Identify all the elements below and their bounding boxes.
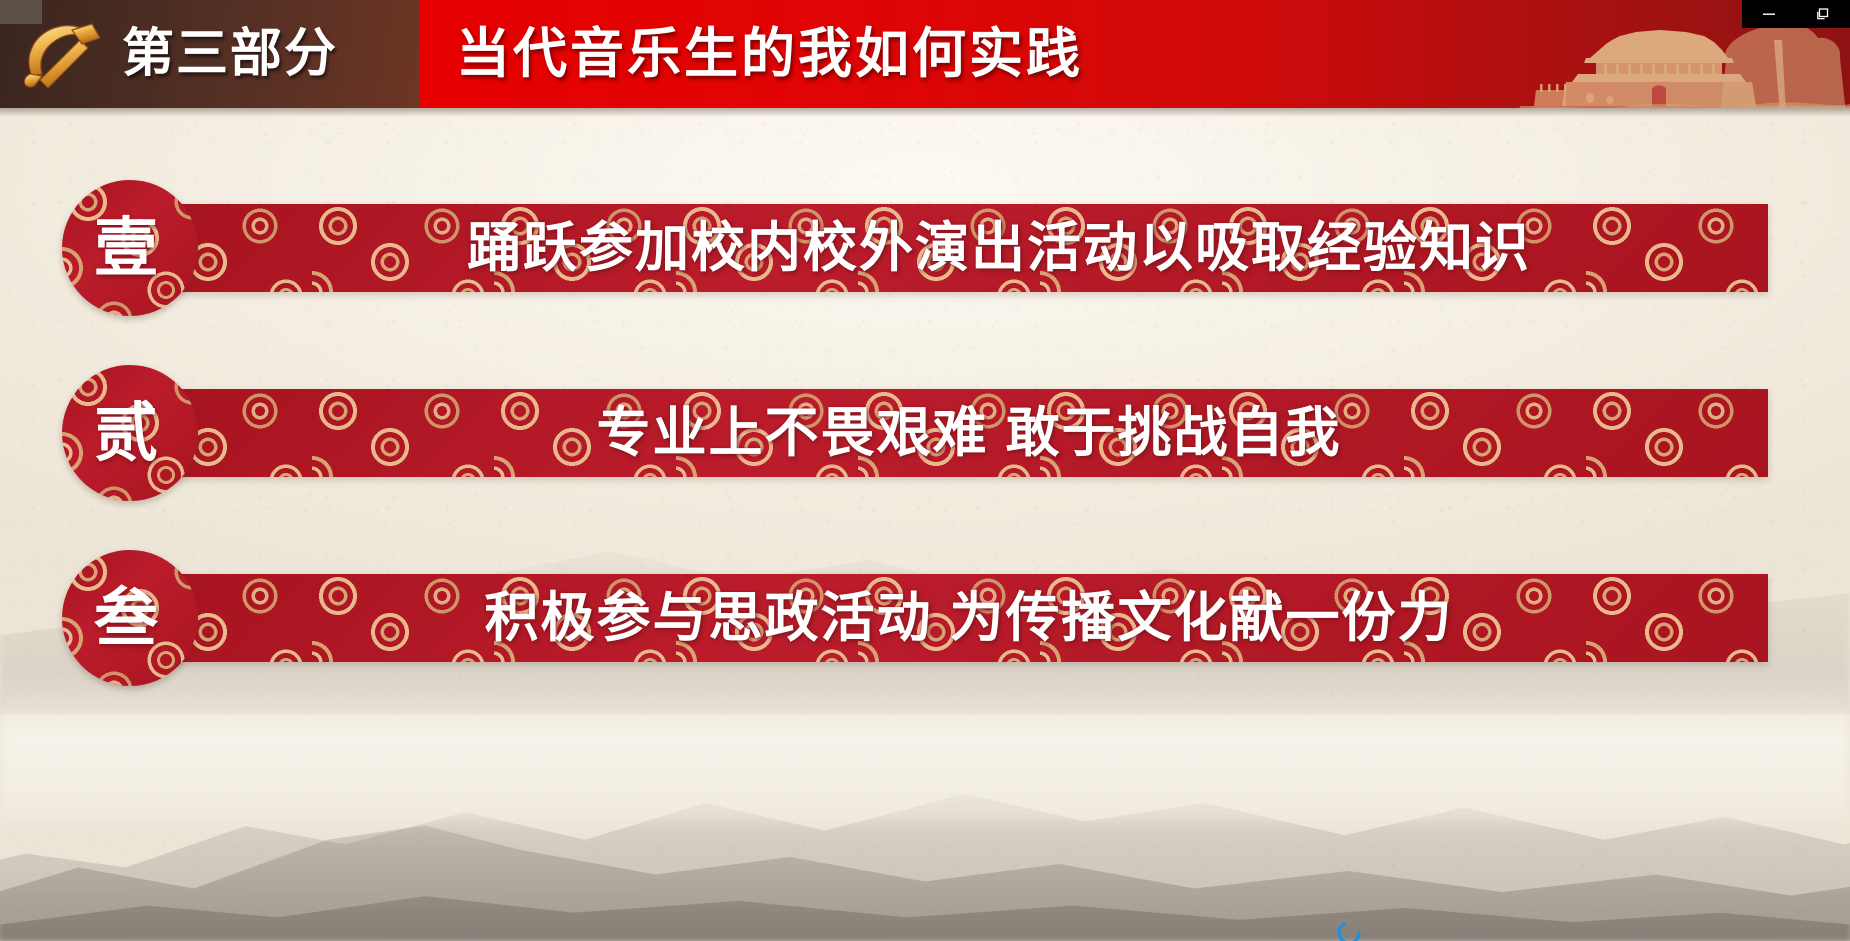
item-text: 踊跃参加校内校外演出活动以吸取经验知识 xyxy=(130,221,1768,275)
slide-header: 第三部分 当代音乐生的我如何实践 xyxy=(0,0,1850,108)
header-section-panel: 第三部分 xyxy=(0,0,420,108)
list-item[interactable]: 踊跃参加校内校外演出活动以吸取经验知识 壹 xyxy=(0,178,1850,318)
slide-canvas: 第三部分 当代音乐生的我如何实践 xyxy=(0,0,1850,941)
header-title-panel: 当代音乐生的我如何实践 xyxy=(420,0,1850,108)
item-text: 专业上不畏艰难 敢于挑战自我 xyxy=(130,406,1768,460)
list-item[interactable]: 专业上不畏艰难 敢于挑战自我 贰 xyxy=(0,363,1850,503)
loading-cursor-icon xyxy=(1334,918,1368,941)
item-bar: 积极参与思政活动 为传播文化献一份力 xyxy=(130,574,1768,662)
item-badge: 壹 xyxy=(62,180,198,316)
item-bar: 踊跃参加校内校外演出活动以吸取经验知识 xyxy=(130,204,1768,292)
header-dropshadow xyxy=(0,108,1850,117)
cpc-emblem-icon xyxy=(14,14,106,94)
restore-icon[interactable] xyxy=(1806,3,1840,25)
item-text: 积极参与思政活动 为传播文化献一份力 xyxy=(130,591,1768,645)
item-badge: 贰 xyxy=(62,365,198,501)
content-list: 踊跃参加校内校外演出活动以吸取经验知识 壹 专业上不畏艰难 敢于挑战自我 贰 积… xyxy=(0,108,1850,720)
item-bar: 专业上不畏艰难 敢于挑战自我 xyxy=(130,389,1768,477)
section-label: 第三部分 xyxy=(122,28,338,80)
badge-number: 叁 xyxy=(94,586,158,650)
page-title: 当代音乐生的我如何实践 xyxy=(456,27,1083,81)
badge-number: 贰 xyxy=(94,401,158,465)
item-badge: 叁 xyxy=(62,550,198,686)
badge-number: 壹 xyxy=(94,216,158,280)
minimize-icon[interactable] xyxy=(1752,3,1786,25)
window-controls xyxy=(1742,0,1850,28)
list-item[interactable]: 积极参与思政活动 为传播文化献一份力 叁 xyxy=(0,548,1850,688)
